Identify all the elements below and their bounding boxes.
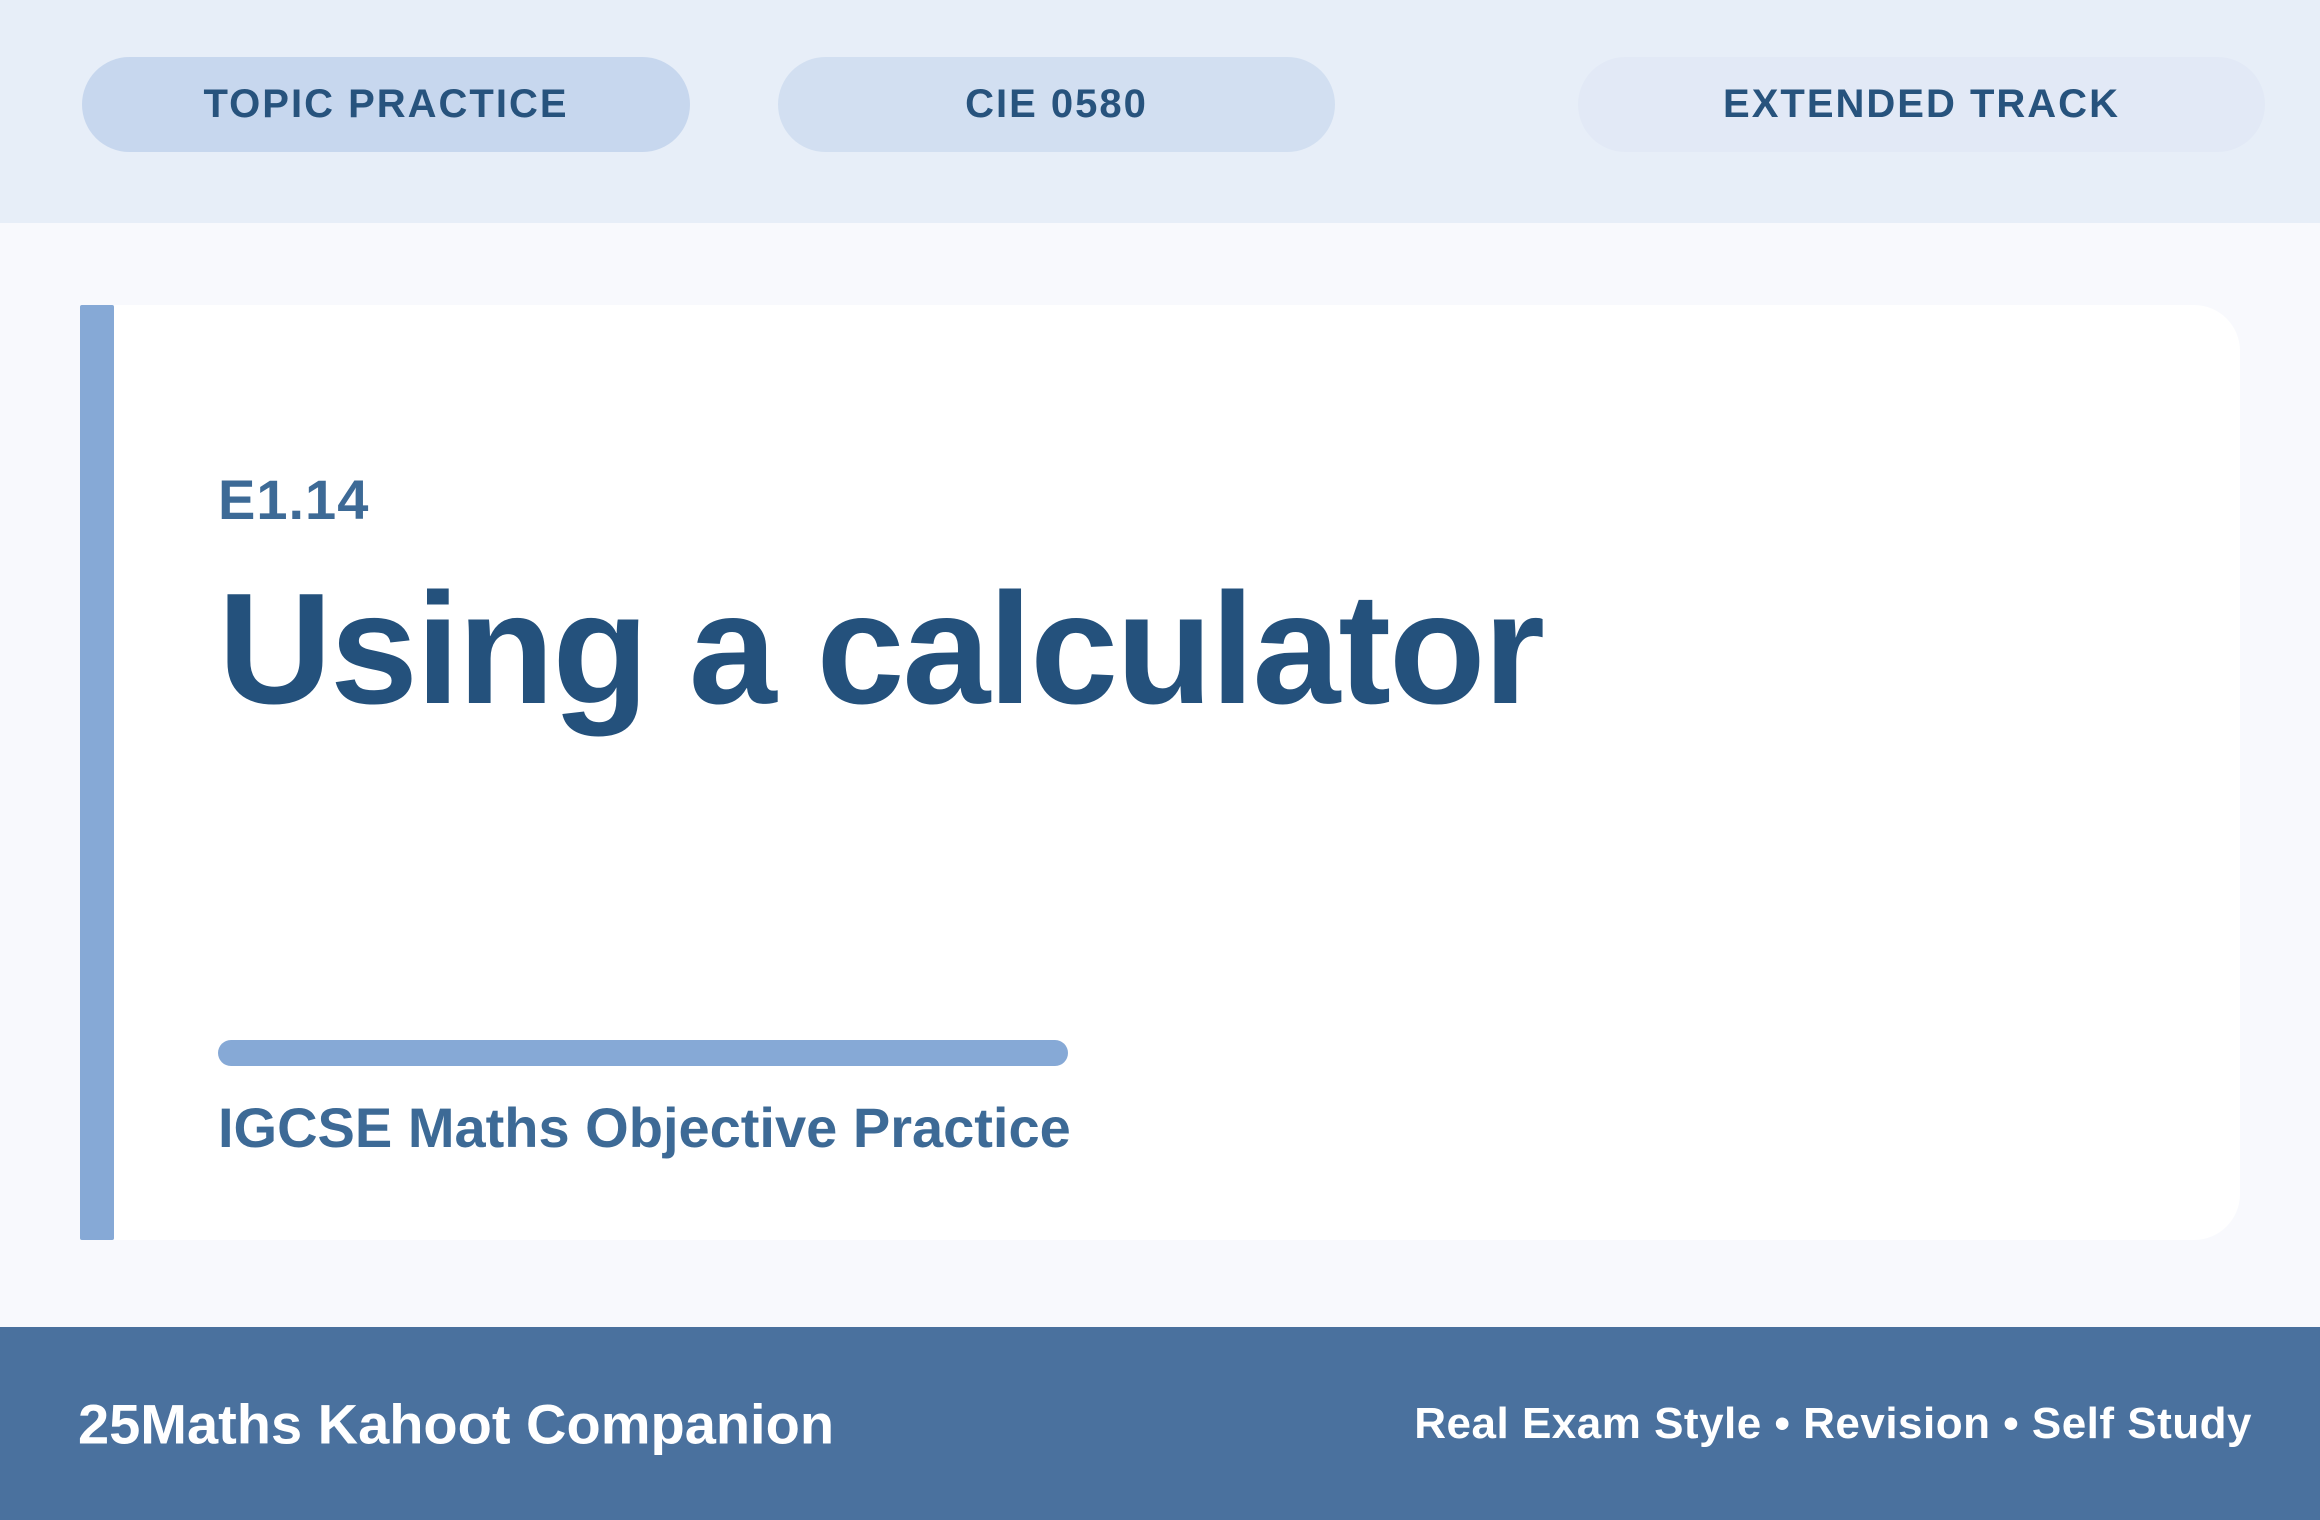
title-divider bbox=[218, 1040, 1068, 1066]
title-card: E1.14 Using a calculator IGCSE Maths Obj… bbox=[114, 305, 2240, 1240]
page-subtitle: IGCSE Maths Objective Practice bbox=[218, 1095, 1071, 1160]
footer-tagline: Real Exam Style • Revision • Self Study bbox=[1414, 1399, 2252, 1449]
footer-bar: 25Maths Kahoot Companion Real Exam Style… bbox=[0, 1327, 2320, 1520]
title-card-wrapper: E1.14 Using a calculator IGCSE Maths Obj… bbox=[80, 305, 2240, 1240]
badge-extended-track[interactable]: EXTENDED TRACK bbox=[1578, 57, 2265, 152]
objective-code: E1.14 bbox=[218, 467, 369, 532]
page-title: Using a calculator bbox=[218, 567, 1543, 733]
header-band: TOPIC PRACTICE CIE 0580 EXTENDED TRACK bbox=[0, 0, 2320, 223]
badge-syllabus-code[interactable]: CIE 0580 bbox=[778, 57, 1335, 152]
title-card-content: E1.14 Using a calculator IGCSE Maths Obj… bbox=[218, 305, 2178, 1240]
badge-topic-practice[interactable]: TOPIC PRACTICE bbox=[82, 57, 690, 152]
badge-row: TOPIC PRACTICE CIE 0580 EXTENDED TRACK bbox=[82, 57, 2265, 152]
footer-brand: 25Maths Kahoot Companion bbox=[78, 1391, 834, 1456]
card-accent-bar bbox=[80, 305, 114, 1240]
